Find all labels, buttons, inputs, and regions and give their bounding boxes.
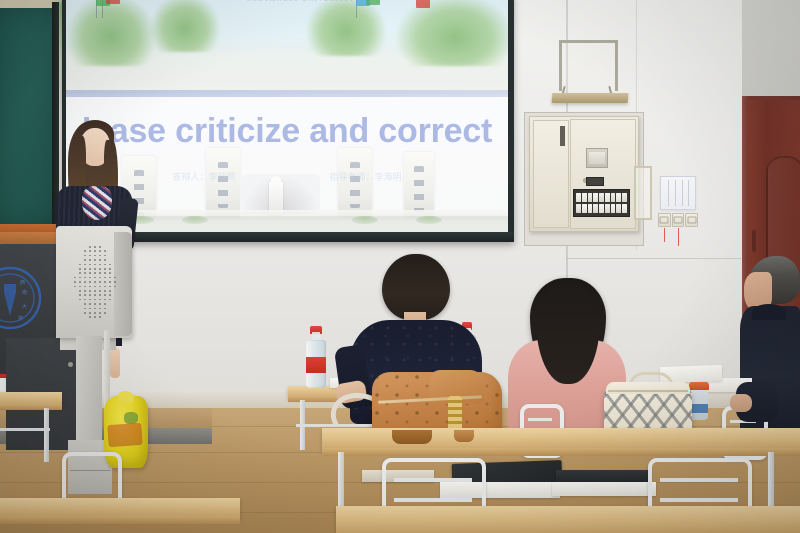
slide-banner-caption: SOUTHWEST UNIVERSITY <box>206 0 396 3</box>
handbag-zipper[interactable] <box>608 390 688 392</box>
breaker-tray[interactable] <box>573 189 630 217</box>
classroom-scene: SOUTHWEST UNIVERSITY lease criticize and… <box>0 0 800 533</box>
wall-frame <box>634 166 652 220</box>
slide-subtitles: 答辩人：李玲燕 指导老师：李海明 <box>66 170 508 183</box>
projection-screen[interactable]: SOUTHWEST UNIVERSITY lease criticize and… <box>66 0 508 232</box>
audience-1-hair <box>382 254 450 320</box>
handbag-top <box>606 382 690 394</box>
panel-main-switch[interactable] <box>586 177 604 186</box>
wall-notice <box>660 176 696 210</box>
wire-red-1 <box>664 228 665 242</box>
panel-meter-window <box>586 148 608 168</box>
wall-sockets[interactable] <box>658 213 698 227</box>
bag-label <box>107 423 142 447</box>
door-handle[interactable] <box>752 230 756 252</box>
slide-banner-photo: SOUTHWEST UNIVERSITY <box>66 0 508 94</box>
green-chalkboard <box>0 8 58 226</box>
breaker-row-top[interactable] <box>576 193 627 202</box>
speaker-grille-icon <box>74 246 118 322</box>
svg-text:大: 大 <box>22 303 27 310</box>
presenter-hand <box>110 348 120 378</box>
socket-3[interactable] <box>685 213 698 227</box>
presenter-scarf <box>82 186 112 220</box>
book-3 <box>552 482 656 496</box>
wall-baseline <box>566 258 741 259</box>
svg-text:南: 南 <box>22 289 27 296</box>
water-bottle-center[interactable] <box>306 326 326 388</box>
wire-red-2 <box>678 228 679 246</box>
socket-1[interactable] <box>658 213 671 227</box>
audience-3-hand <box>730 394 752 412</box>
desk-foreground-right <box>336 506 800 533</box>
thermos-cup-band <box>690 404 708 413</box>
desk-left-edge <box>0 404 62 410</box>
panel-latch[interactable] <box>560 126 565 146</box>
thermos-cup-lid <box>689 382 709 390</box>
desk-foreground <box>0 498 240 518</box>
desk-front-edge <box>322 448 800 456</box>
desk-left-leg <box>44 408 49 462</box>
desk-left-rail <box>0 428 50 431</box>
console-lock[interactable] <box>68 362 73 367</box>
desk-foreground-edge <box>0 516 240 524</box>
panel-bracket-frame <box>559 40 618 91</box>
university-seal-icon: 西 南 大 学 <box>0 258 46 336</box>
slide-subtitle-left: 答辩人：李玲燕 <box>172 170 235 183</box>
door-header-wall <box>742 0 800 98</box>
panel-shelf <box>552 93 629 103</box>
slide-divider <box>66 90 508 97</box>
backpack-strap-1 <box>392 430 432 444</box>
slide-subtitle-right: 指导老师：李海明 <box>330 170 402 183</box>
lectern-column <box>76 336 102 456</box>
socket-2[interactable] <box>672 213 685 227</box>
breaker-row-bottom[interactable] <box>576 204 627 213</box>
svg-text:学: 学 <box>18 315 23 322</box>
backpack-strap-2 <box>454 430 474 442</box>
svg-text:西: 西 <box>20 280 25 286</box>
audience-3-collar <box>752 304 786 320</box>
slide-title: lease criticize and correct <box>66 112 508 151</box>
